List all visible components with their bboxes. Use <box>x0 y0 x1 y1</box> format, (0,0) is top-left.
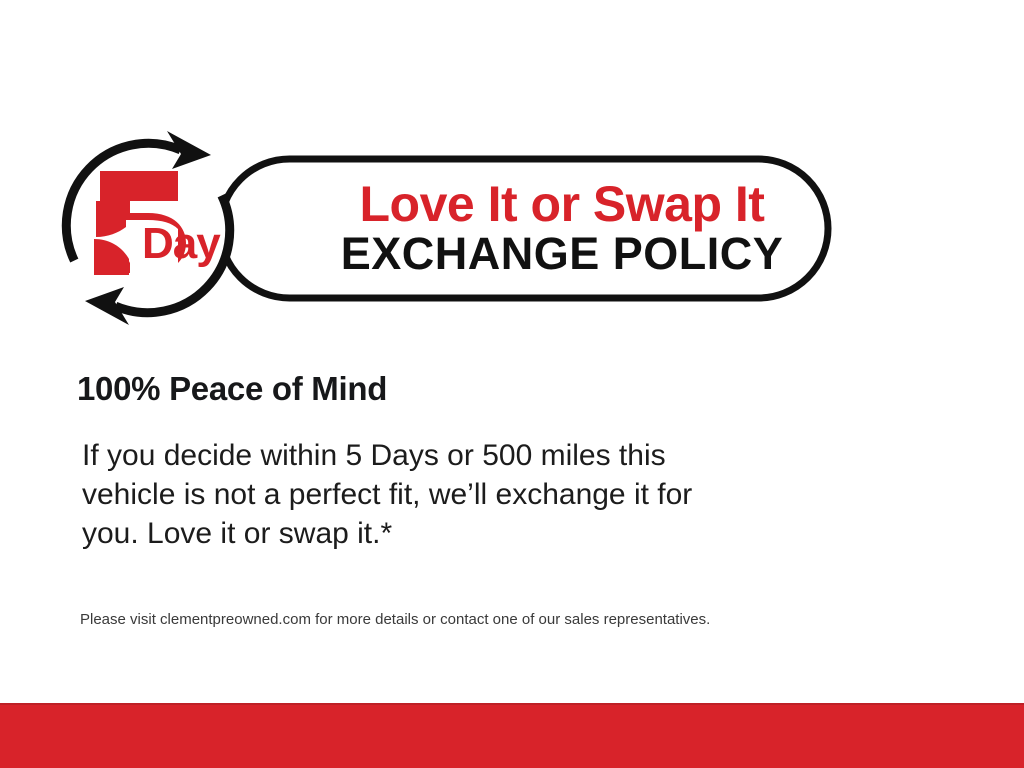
footer-accent-bar <box>0 703 1024 768</box>
policy-description-line: you. Love it or swap it.* <box>82 514 872 553</box>
day-label: Day <box>142 222 220 266</box>
exchange-policy-badge: Day Love It or Swap It EXCHANGE POLICY <box>60 125 850 335</box>
footer-accent-hairline <box>0 703 1024 705</box>
peace-of-mind-headline: 100% Peace of Mind <box>77 370 387 408</box>
badge-title-secondary: EXCHANGE POLICY <box>341 230 784 278</box>
policy-description-line: vehicle is not a perfect fit, we’ll exch… <box>82 475 872 514</box>
slide-canvas: Day Love It or Swap It EXCHANGE POLICY 1… <box>0 0 1024 768</box>
five-day-mark: Day <box>82 167 242 287</box>
badge-title-primary: Love It or Swap It <box>360 178 765 230</box>
policy-description: If you decide within 5 Days or 500 miles… <box>82 436 872 553</box>
fineprint-disclaimer: Please visit clementpreowned.com for mor… <box>80 610 710 630</box>
policy-description-line: If you decide within 5 Days or 500 miles… <box>82 436 872 475</box>
badge-title-block: Love It or Swap It EXCHANGE POLICY <box>278 158 846 298</box>
